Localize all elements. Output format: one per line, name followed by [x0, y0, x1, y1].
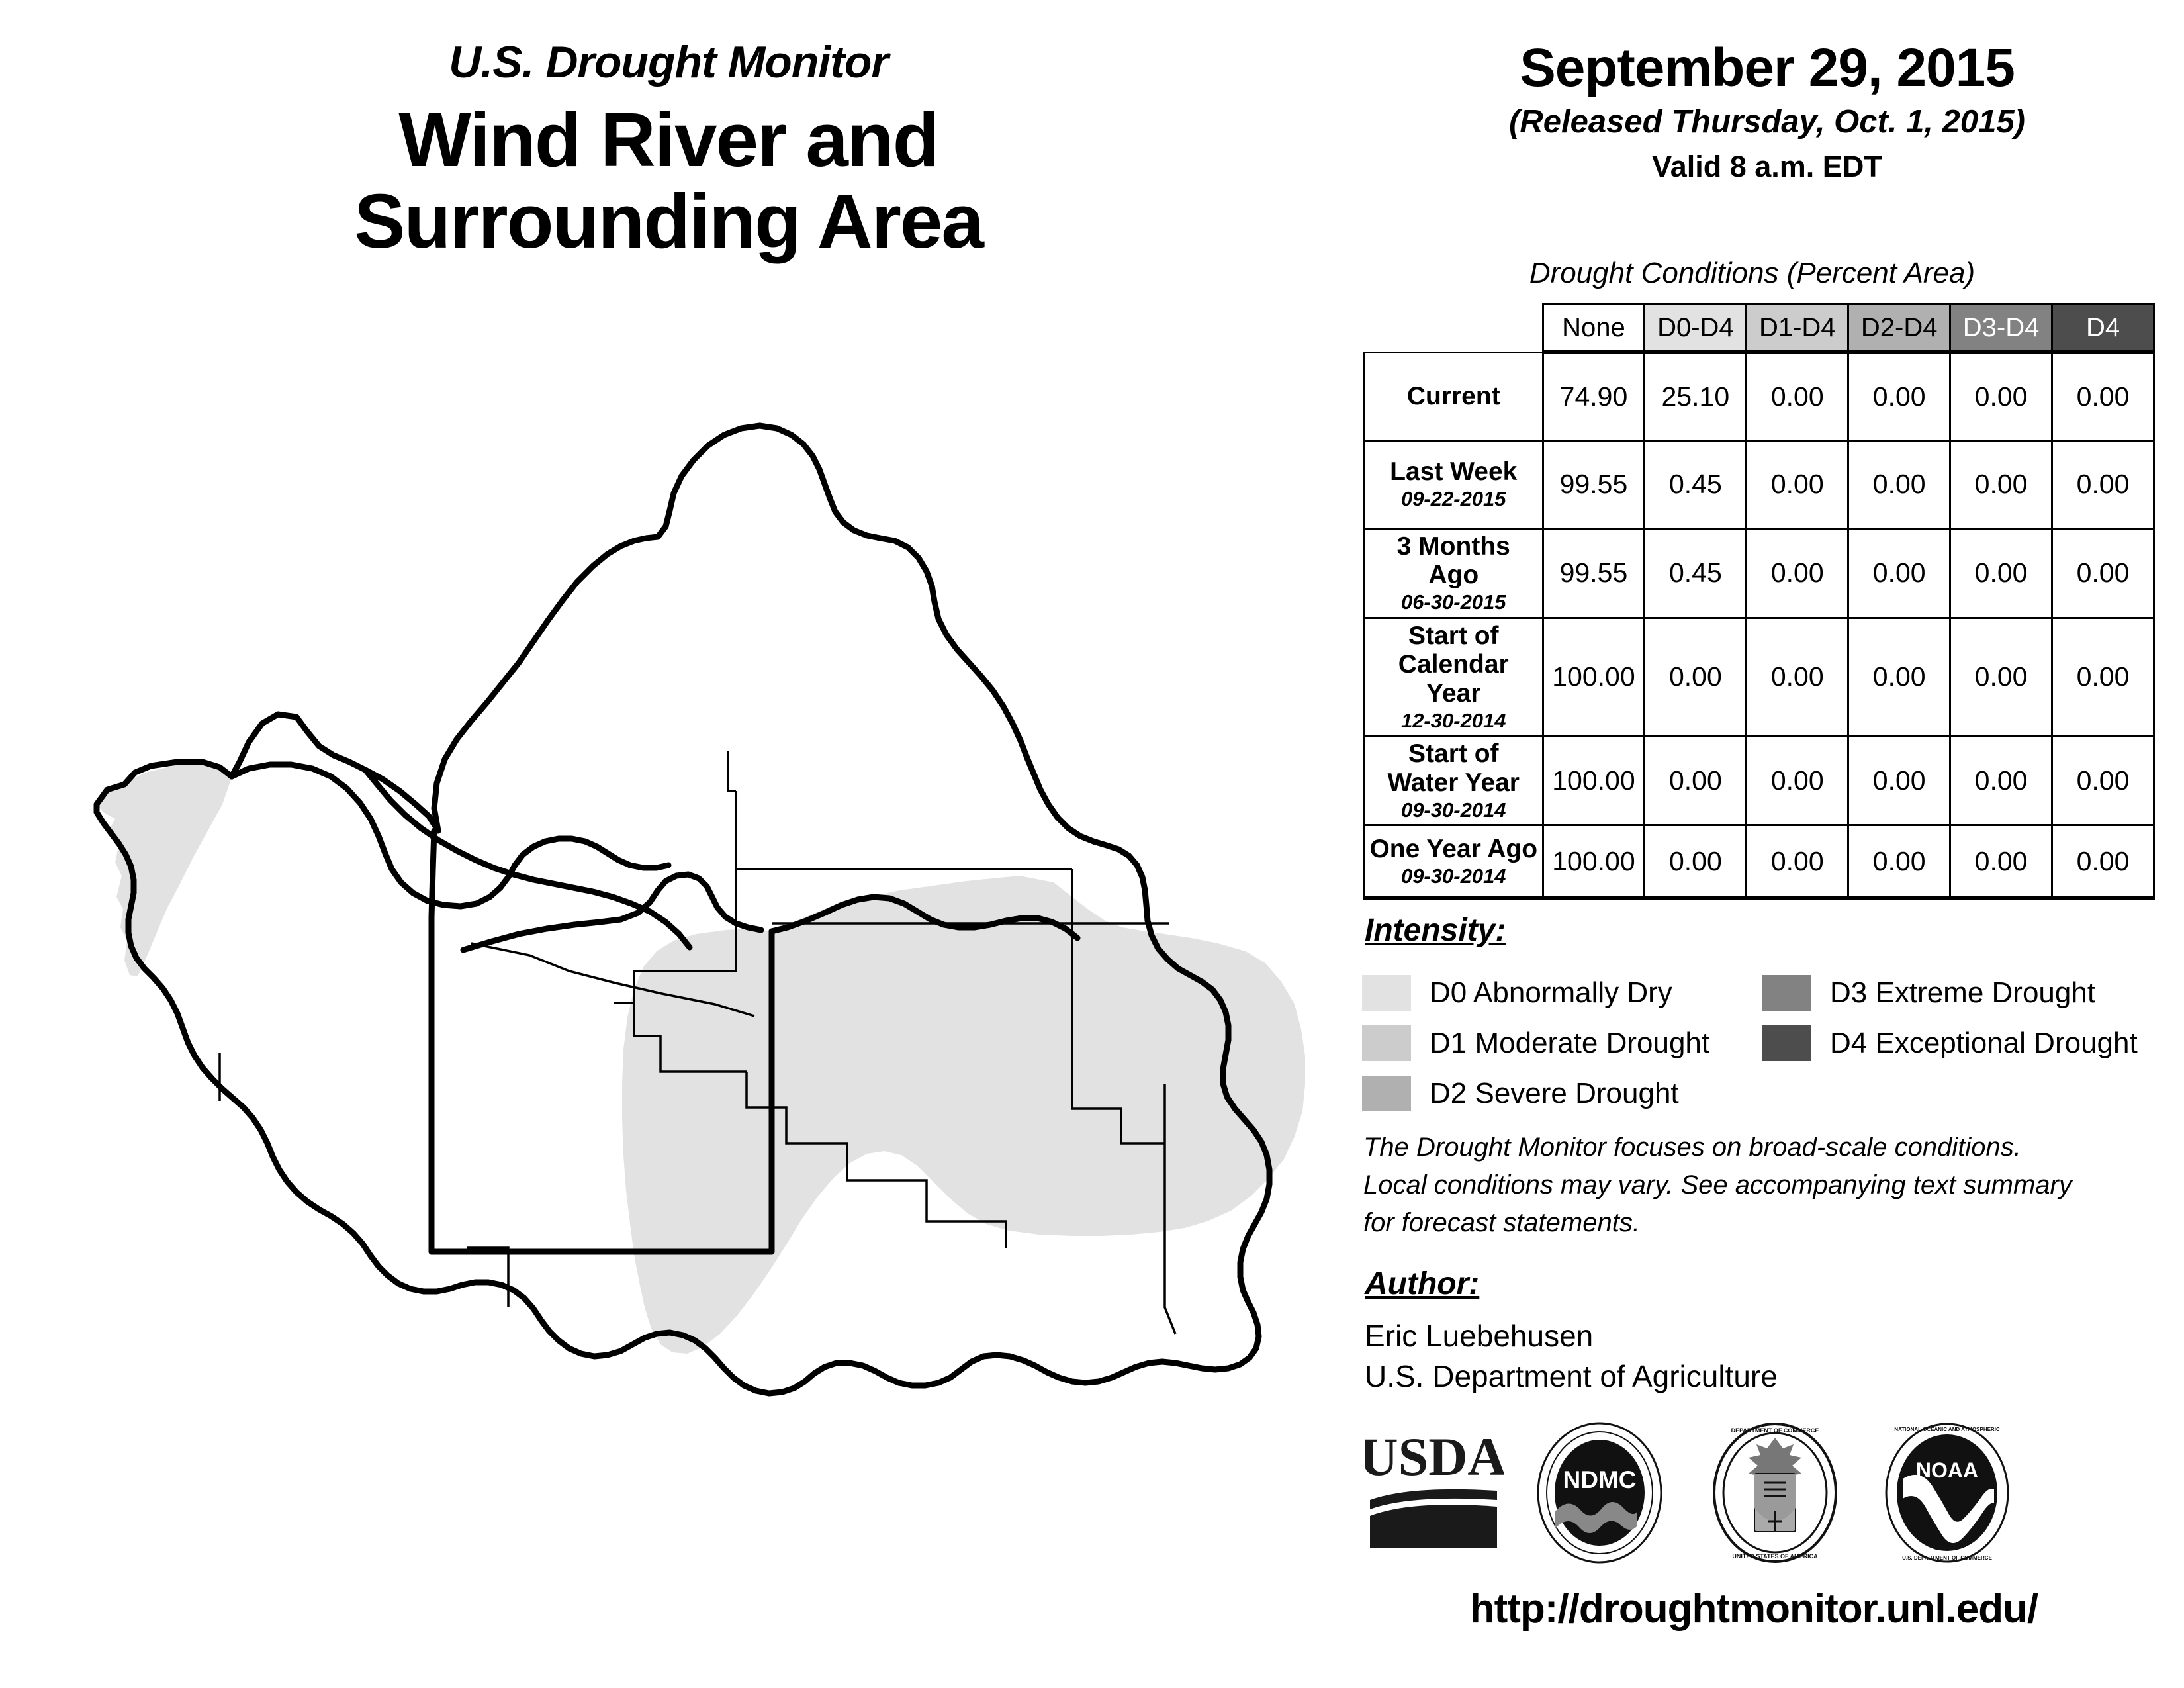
row-label-text: Start of Calendar Year [1398, 622, 1509, 708]
row-label-text: Start of Water Year [1388, 739, 1520, 797]
noaa-logo-ring-top: NATIONAL OCEANIC AND ATMOSPHERIC [1894, 1427, 2000, 1432]
date-block: September 29, 2015 (Released Thursday, O… [1350, 41, 2184, 181]
row-label-date: 06-30-2015 [1369, 591, 1538, 614]
cell-d0-d4: 0.45 [1645, 440, 1747, 528]
table-row: Start of Calendar Year 12-30-2014 100.00… [1365, 618, 2154, 736]
row-label-date: 09-22-2015 [1369, 488, 1538, 511]
cell-d4: 0.00 [2052, 440, 2154, 528]
table-row: Current 74.90 25.10 0.00 0.00 0.00 0.00 [1365, 352, 2154, 440]
cell-d3-d4: 0.00 [1950, 618, 2052, 736]
author-heading: Author: [1365, 1266, 1479, 1302]
cell-d0-d4: 25.10 [1645, 352, 1747, 440]
cell-none: 100.00 [1543, 825, 1645, 899]
table-body: Current 74.90 25.10 0.00 0.00 0.00 0.00 … [1365, 352, 2154, 898]
title-block: U.S. Drought Monitor Wind River and Surr… [0, 40, 1337, 262]
row-label-start-of-water-year: Start of Water Year 09-30-2014 [1365, 736, 1543, 825]
column-header-d2-d4: D2-D4 [1848, 305, 1950, 353]
website-url[interactable]: http://droughtmonitor.unl.edu/ [1350, 1585, 2158, 1632]
legend-swatch-d3 [1762, 975, 1811, 1011]
legend-label-d1: D1 Moderate Drought [1430, 1027, 1709, 1060]
column-header-none: None [1543, 305, 1645, 353]
table-row: Start of Water Year 09-30-2014 100.00 0.… [1365, 736, 2154, 825]
drought-map[interactable] [66, 367, 1337, 1453]
cell-none: 99.55 [1543, 440, 1645, 528]
cell-d0-d4: 0.00 [1645, 825, 1747, 899]
legend-item-d2: D2 Severe Drought [1362, 1068, 1709, 1119]
column-header-d4: D4 [2052, 305, 2154, 353]
cell-d2-d4: 0.00 [1848, 352, 1950, 440]
cell-d2-d4: 0.00 [1848, 528, 1950, 618]
row-label-date: 09-30-2014 [1369, 799, 1538, 822]
cell-d1-d4: 0.00 [1747, 352, 1848, 440]
cell-d3-d4: 0.00 [1950, 440, 2052, 528]
cell-d1-d4: 0.00 [1747, 736, 1848, 825]
cell-d2-d4: 0.00 [1848, 618, 1950, 736]
drought-monitor-page: U.S. Drought Monitor Wind River and Surr… [0, 0, 2184, 1688]
row-label-one-year-ago: One Year Ago 09-30-2014 [1365, 825, 1543, 899]
row-label-text: 3 Months Ago [1397, 532, 1510, 590]
row-label-text: Current [1407, 382, 1500, 410]
cell-d3-d4: 0.00 [1950, 528, 2052, 618]
legend-item-d0: D0 Abnormally Dry [1362, 968, 1709, 1018]
disclaimer-line-3: for forecast statements. [1363, 1204, 2158, 1242]
valid-date: September 29, 2015 [1350, 41, 2184, 95]
agency-logos: USDA NDMC DEPARTMENT OF [1350, 1422, 2184, 1574]
table-header: None D0-D4 D1-D4 D2-D4 D3-D4 D4 [1365, 305, 2154, 353]
released-date: (Released Thursday, Oct. 1, 2015) [1350, 106, 2184, 138]
disclaimer-text: The Drought Monitor focuses on broad-sca… [1363, 1129, 2158, 1241]
legend-swatch-d4 [1762, 1025, 1811, 1061]
ndmc-logo-text: NDMC [1563, 1466, 1637, 1493]
d0-area-west [97, 763, 232, 976]
row-label-date: 12-30-2014 [1369, 710, 1538, 733]
cell-d1-d4: 0.00 [1747, 825, 1848, 899]
legend-column-right: D3 Extreme Drought D4 Exceptional Drough… [1762, 968, 2138, 1068]
cell-d4: 0.00 [2052, 825, 2154, 899]
cell-d2-d4: 0.00 [1848, 825, 1950, 899]
table-caption: Drought Conditions (Percent Area) [1350, 257, 2154, 290]
page-title-line1: Wind River and [0, 99, 1337, 181]
cell-d4: 0.00 [2052, 352, 2154, 440]
cell-d4: 0.00 [2052, 528, 2154, 618]
disclaimer-line-1: The Drought Monitor focuses on broad-sca… [1363, 1129, 2158, 1166]
author-block: Eric Luebehusen U.S. Department of Agric… [1365, 1316, 1778, 1396]
valid-time: Valid 8 a.m. EDT [1350, 152, 2184, 181]
usda-logo: USDA [1365, 1422, 1504, 1554]
page-title: Wind River and Surrounding Area [0, 99, 1337, 262]
cell-d3-d4: 0.00 [1950, 352, 2052, 440]
column-header-d3-d4: D3-D4 [1950, 305, 2052, 353]
monitor-label: U.S. Drought Monitor [0, 40, 1337, 85]
row-label-start-of-calendar-year: Start of Calendar Year 12-30-2014 [1365, 618, 1543, 736]
cell-d3-d4: 0.00 [1950, 825, 2052, 899]
usda-logo-text: USDA [1365, 1427, 1504, 1487]
table-row: 3 Months Ago 06-30-2015 99.55 0.45 0.00 … [1365, 528, 2154, 618]
legend-swatch-d1 [1362, 1025, 1411, 1061]
row-label-date: 09-30-2014 [1369, 865, 1538, 888]
noaa-logo-ring-bottom: U.S. DEPARTMENT OF COMMERCE [1902, 1555, 1993, 1561]
table-header-row: None D0-D4 D1-D4 D2-D4 D3-D4 D4 [1365, 305, 2154, 353]
table-corner-cell [1365, 305, 1543, 353]
d0-area-central-east [622, 876, 1305, 1354]
legend-label-d4: D4 Exceptional Drought [1830, 1027, 2138, 1060]
row-label-text: Last Week [1390, 457, 1517, 486]
cell-d0-d4: 0.45 [1645, 528, 1747, 618]
intensity-heading: Intensity: [1365, 912, 1506, 949]
legend-item-d3: D3 Extreme Drought [1762, 968, 2138, 1018]
author-name: Eric Luebehusen [1365, 1316, 1778, 1356]
row-label-text: One Year Ago [1369, 835, 1537, 863]
cell-d4: 0.00 [2052, 736, 2154, 825]
column-header-d0-d4: D0-D4 [1645, 305, 1747, 353]
row-label-3-months-ago: 3 Months Ago 06-30-2015 [1365, 528, 1543, 618]
cell-d0-d4: 0.00 [1645, 618, 1747, 736]
table-row: One Year Ago 09-30-2014 100.00 0.00 0.00… [1365, 825, 2154, 899]
doc-logo: DEPARTMENT OF COMMERCE UNITED STATES OF … [1711, 1422, 1840, 1564]
cell-none: 100.00 [1543, 618, 1645, 736]
page-title-line2: Surrounding Area [0, 181, 1337, 262]
legend-item-d1: D1 Moderate Drought [1362, 1018, 1709, 1068]
noaa-logo: NOAA NATIONAL OCEANIC AND ATMOSPHERIC U.… [1883, 1422, 2012, 1564]
row-label-last-week: Last Week 09-22-2015 [1365, 440, 1543, 528]
cell-d1-d4: 0.00 [1747, 440, 1848, 528]
cell-d2-d4: 0.00 [1848, 736, 1950, 825]
noaa-logo-text: NOAA [1916, 1458, 1978, 1482]
legend-label-d0: D0 Abnormally Dry [1430, 976, 1672, 1009]
legend-swatch-d0 [1362, 975, 1411, 1011]
legend-column-left: D0 Abnormally Dry D1 Moderate Drought D2… [1362, 968, 1709, 1119]
ndmc-logo: NDMC [1535, 1422, 1664, 1564]
cell-none: 74.90 [1543, 352, 1645, 440]
legend-label-d2: D2 Severe Drought [1430, 1077, 1679, 1110]
author-agency: U.S. Department of Agriculture [1365, 1356, 1778, 1397]
row-label-current: Current [1365, 352, 1543, 440]
legend-label-d3: D3 Extreme Drought [1830, 976, 2095, 1009]
cell-d1-d4: 0.00 [1747, 528, 1848, 618]
right-panel: September 29, 2015 (Released Thursday, O… [1350, 0, 2184, 1688]
cell-d4: 0.00 [2052, 618, 2154, 736]
cell-d0-d4: 0.00 [1645, 736, 1747, 825]
doc-logo-ring-top: DEPARTMENT OF COMMERCE [1731, 1427, 1819, 1434]
table-row: Last Week 09-22-2015 99.55 0.45 0.00 0.0… [1365, 440, 2154, 528]
legend-swatch-d2 [1362, 1076, 1411, 1111]
cell-d1-d4: 0.00 [1747, 618, 1848, 736]
cell-none: 99.55 [1543, 528, 1645, 618]
doc-logo-ring-bottom: UNITED STATES OF AMERICA [1732, 1553, 1818, 1560]
cell-none: 100.00 [1543, 736, 1645, 825]
cell-d2-d4: 0.00 [1848, 440, 1950, 528]
map-svg [66, 367, 1337, 1453]
legend-item-d4: D4 Exceptional Drought [1762, 1018, 2138, 1068]
column-header-d1-d4: D1-D4 [1747, 305, 1848, 353]
disclaimer-line-2: Local conditions may vary. See accompany… [1363, 1166, 2158, 1204]
drought-conditions-table: None D0-D4 D1-D4 D2-D4 D3-D4 D4 Current … [1363, 303, 2155, 900]
cell-d3-d4: 0.00 [1950, 736, 2052, 825]
